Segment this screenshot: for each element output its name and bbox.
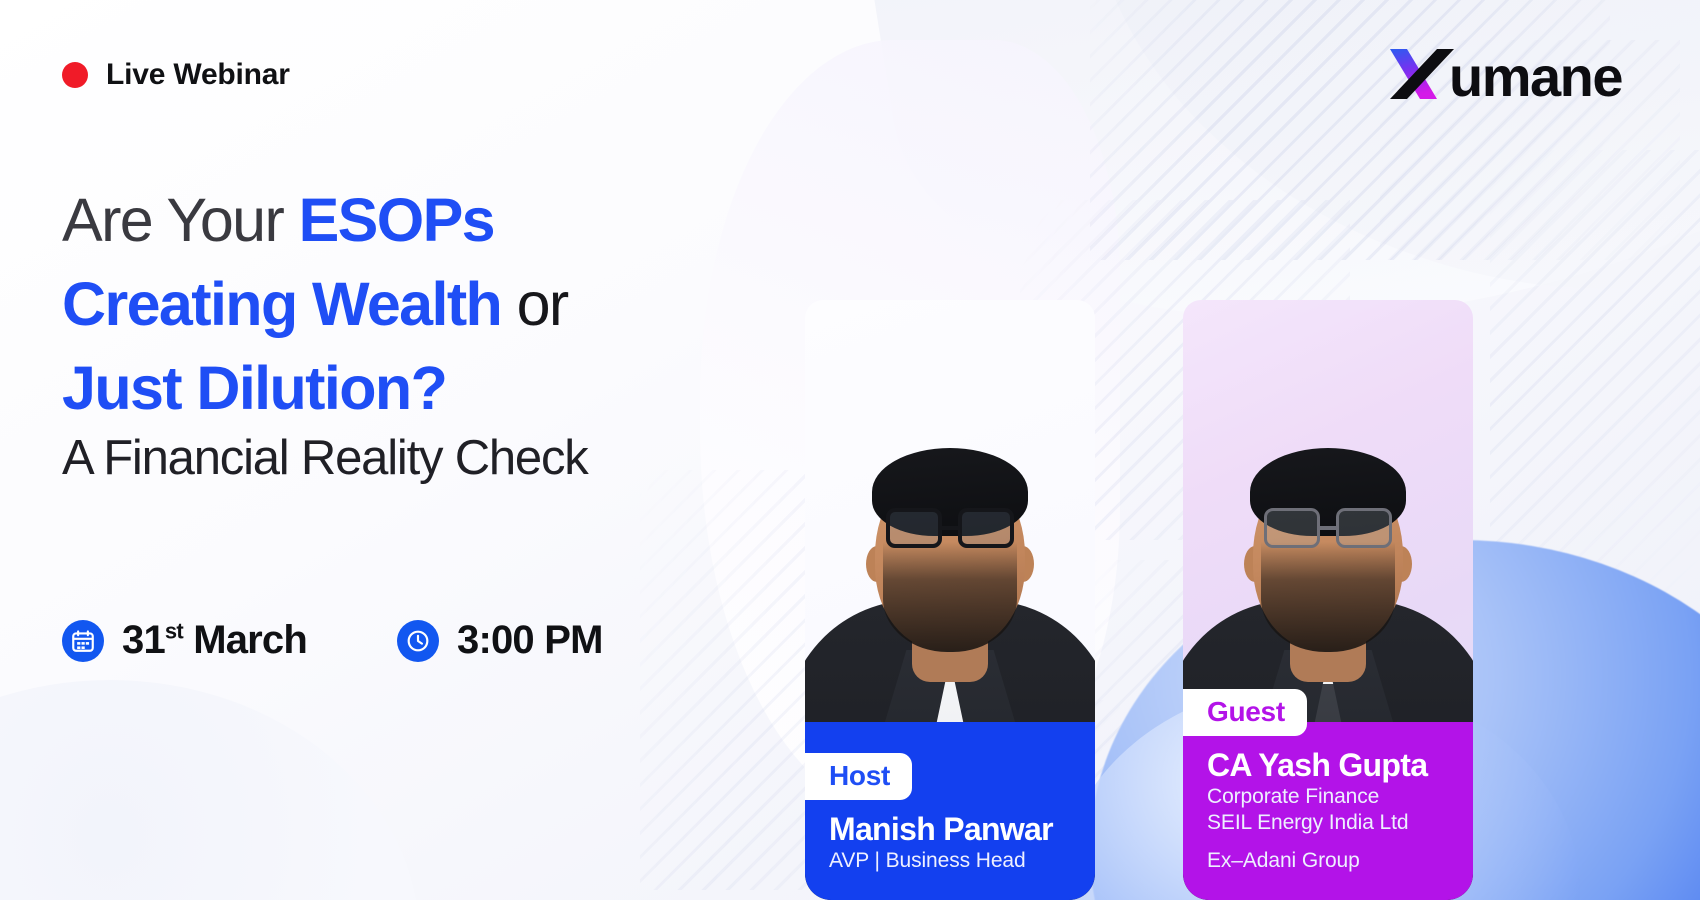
headline-line-1-accent: ESOPs: [299, 186, 494, 254]
page-subtitle: A Financial Reality Check: [62, 430, 588, 486]
svg-text:umane: umane: [1449, 45, 1622, 105]
webinar-poster: Live Webinar Are Your ESOPs Creating Wea…: [0, 0, 1700, 900]
speaker-label-guest: Guest CA Yash Gupta Corporate Finance SE…: [1183, 689, 1473, 900]
portrait-glasses-bridge: [942, 526, 958, 530]
xumane-wordmark-icon: umane: [1387, 43, 1645, 105]
portrait-beard: [883, 542, 1017, 652]
event-date-day: 31: [122, 618, 165, 662]
portrait-glasses-left: [886, 508, 942, 548]
diagonal-stripes-pattern: [1090, 0, 1610, 260]
speaker-card-host: Host Manish Panwar AVP | Business Head: [805, 300, 1095, 900]
headline-line-3-accent: Just Dilution?: [62, 354, 446, 422]
event-time-label: 3:00 PM: [457, 618, 603, 663]
live-webinar-label: Live Webinar: [106, 58, 290, 92]
headline-line-1: Are Your ESOPs: [62, 178, 742, 262]
event-meta-row: 31st March 3:00 PM: [62, 618, 603, 663]
speaker-company-line-3: Ex–Adani Group: [1207, 848, 1449, 874]
portrait-glasses-right: [1336, 508, 1392, 548]
portrait-beard: [1261, 542, 1395, 652]
portrait-glasses-left: [1264, 508, 1320, 548]
page-title: Are Your ESOPs Creating Wealth or Just D…: [62, 178, 742, 430]
headline-line-1-plain: Are Your: [62, 186, 299, 254]
clock-icon: [397, 620, 439, 662]
portrait-glasses-right: [958, 508, 1014, 548]
headline-line-2-accent: Creating Wealth: [62, 270, 501, 338]
event-date-label: 31st March: [122, 618, 307, 663]
speaker-role-tag-host: Host: [805, 753, 912, 800]
speaker-name-guest: CA Yash Gupta: [1207, 746, 1449, 784]
live-webinar-badge: Live Webinar: [62, 58, 290, 92]
event-date-ordinal: st: [165, 619, 183, 644]
speaker-role-tag-guest: Guest: [1183, 689, 1307, 736]
speaker-card-guest: Guest CA Yash Gupta Corporate Finance SE…: [1183, 300, 1473, 900]
speaker-company-line-1: Corporate Finance: [1207, 784, 1449, 810]
headline-line-3: Just Dilution?: [62, 346, 742, 430]
event-date-month: March: [183, 618, 307, 662]
live-record-dot-icon: [62, 62, 88, 88]
event-time: 3:00 PM: [397, 618, 603, 663]
speaker-label-host: Host Manish Panwar AVP | Business Head: [805, 753, 1095, 900]
speaker-title-host: AVP | Business Head: [829, 848, 1071, 874]
diagonal-stripes-pattern: [1490, 150, 1700, 610]
left-content-column: Live Webinar Are Your ESOPs Creating Wea…: [0, 0, 800, 900]
calendar-icon: [62, 620, 104, 662]
speaker-details-guest: CA Yash Gupta Corporate Finance SEIL Ene…: [1183, 736, 1473, 874]
event-date: 31st March: [62, 618, 307, 663]
portrait-glasses-bridge: [1320, 526, 1336, 530]
speaker-company-line-2: SEIL Energy India Ltd: [1207, 810, 1449, 836]
speaker-details-host: Manish Panwar AVP | Business Head: [805, 800, 1095, 874]
headline-line-2: Creating Wealth or: [62, 262, 742, 346]
speaker-name-host: Manish Panwar: [829, 810, 1071, 848]
headline-line-2-plain: or: [501, 270, 567, 338]
brand-logo[interactable]: umane: [1387, 45, 1645, 103]
